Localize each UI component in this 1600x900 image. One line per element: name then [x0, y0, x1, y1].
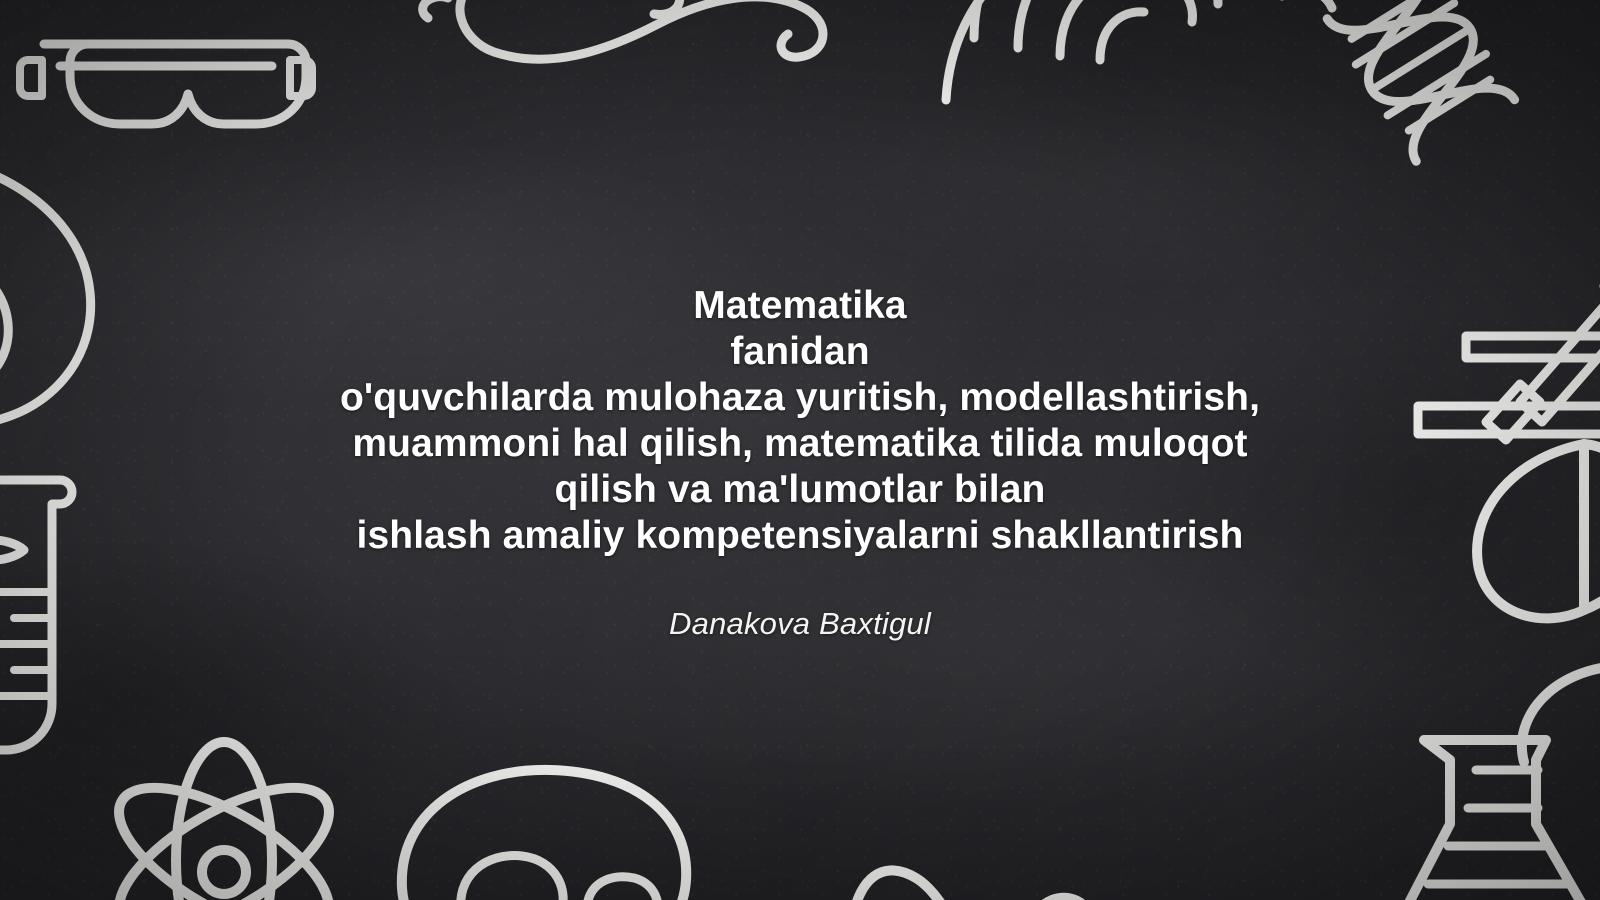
headline-line-6: ishlash amaliy kompetensiyalarni shaklla…: [340, 513, 1260, 559]
headline-line-5: qilish va ma'lumotlar bilan: [340, 467, 1260, 513]
headline-line-2: fanidan: [340, 329, 1260, 375]
presentation-slide: Matematika fanidan o'quvchilarda mulohaz…: [0, 0, 1600, 900]
headline-line-1: Matematika: [340, 283, 1260, 329]
author-byline: Danakova Baxtigul: [669, 605, 931, 643]
slide-content: Matematika fanidan o'quvchilarda mulohaz…: [0, 0, 1600, 900]
headline-line-3: o'quvchilarda mulohaza yuritish, modella…: [340, 375, 1260, 421]
slide-headline: Matematika fanidan o'quvchilarda mulohaz…: [340, 283, 1260, 559]
headline-line-4: muammoni hal qilish, matematika tilida m…: [340, 421, 1260, 467]
